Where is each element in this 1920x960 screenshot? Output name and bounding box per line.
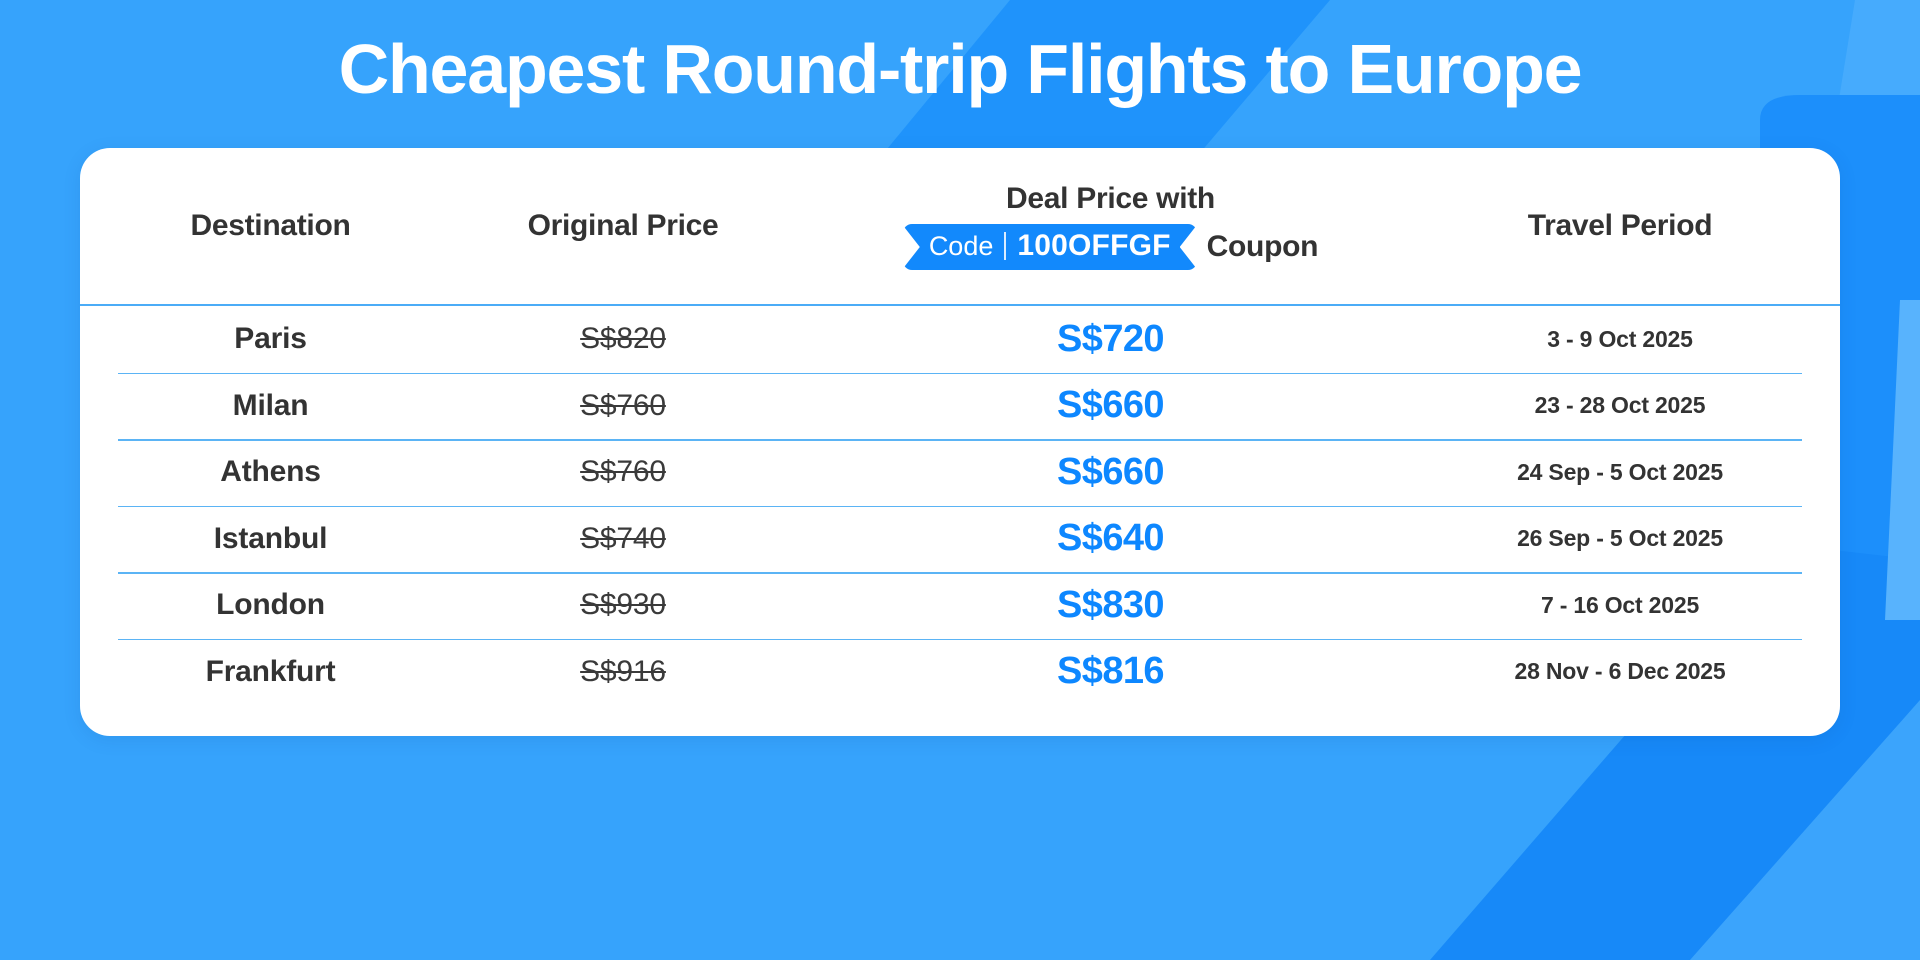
coupon-label: Code (929, 233, 994, 260)
cell-destination: London (98, 588, 443, 622)
table-row: Milan S$760 S$660 23 - 28 Oct 2025 (98, 373, 1822, 440)
table-row: London S$930 S$830 7 - 16 Oct 2025 (98, 572, 1822, 639)
original-price-strikethrough: S$930 (580, 588, 666, 621)
coupon-code-text: 100OFFGF (1017, 231, 1170, 261)
table-row: Athens S$760 S$660 24 Sep - 5 Oct 2025 (98, 439, 1822, 506)
cell-travel-period: 7 - 16 Oct 2025 (1418, 592, 1822, 619)
cell-original-price: S$760 (443, 389, 803, 423)
column-header-destination: Destination (98, 209, 443, 243)
cell-destination: Paris (98, 322, 443, 356)
table-body: Paris S$820 S$720 3 - 9 Oct 2025 Milan S… (80, 306, 1840, 705)
table-row: Paris S$820 S$720 3 - 9 Oct 2025 (98, 306, 1822, 373)
cell-original-price: S$740 (443, 522, 803, 556)
coupon-code-badge[interactable]: Code 100OFFGF (903, 224, 1197, 270)
cell-destination: Istanbul (98, 522, 443, 556)
cell-original-price: S$930 (443, 588, 803, 622)
cell-destination: Frankfurt (98, 655, 443, 689)
coupon-suffix-label: Coupon (1207, 230, 1319, 264)
table-row: Istanbul S$740 S$640 26 Sep - 5 Oct 2025 (98, 506, 1822, 573)
original-price-strikethrough: S$760 (580, 389, 666, 422)
cell-deal-price: S$660 (803, 451, 1418, 494)
page-title: Cheapest Round-trip Flights to Europe (0, 28, 1920, 111)
column-header-travel-period: Travel Period (1418, 209, 1822, 243)
cell-travel-period: 28 Nov - 6 Dec 2025 (1418, 658, 1822, 685)
cell-destination: Milan (98, 389, 443, 423)
column-header-deal-price: Deal Price with Code 100OFFGF Coupon (803, 182, 1418, 270)
original-price-strikethrough: S$916 (580, 655, 666, 688)
table-row: Frankfurt S$916 S$816 28 Nov - 6 Dec 202… (98, 639, 1822, 706)
cell-deal-price: S$830 (803, 584, 1418, 627)
cell-deal-price: S$720 (803, 318, 1418, 361)
cell-deal-price: S$816 (803, 650, 1418, 693)
table-header-row: Destination Original Price Deal Price wi… (80, 148, 1840, 304)
cell-destination: Athens (98, 455, 443, 489)
original-price-strikethrough: S$760 (580, 455, 666, 488)
coupon-divider-icon (1004, 232, 1006, 260)
cell-original-price: S$820 (443, 322, 803, 356)
flights-table-card: Destination Original Price Deal Price wi… (80, 148, 1840, 736)
deal-price-coupon-line: Code 100OFFGF Coupon (803, 224, 1418, 270)
original-price-strikethrough: S$740 (580, 522, 666, 555)
cell-deal-price: S$660 (803, 384, 1418, 427)
cell-original-price: S$760 (443, 455, 803, 489)
deal-price-heading-text: Deal Price with (803, 182, 1418, 216)
cell-original-price: S$916 (443, 655, 803, 689)
cell-travel-period: 23 - 28 Oct 2025 (1418, 392, 1822, 419)
original-price-strikethrough: S$820 (580, 322, 666, 355)
cell-travel-period: 26 Sep - 5 Oct 2025 (1418, 525, 1822, 552)
column-header-original-price: Original Price (443, 209, 803, 243)
cell-deal-price: S$640 (803, 517, 1418, 560)
cell-travel-period: 24 Sep - 5 Oct 2025 (1418, 459, 1822, 486)
cell-travel-period: 3 - 9 Oct 2025 (1418, 326, 1822, 353)
